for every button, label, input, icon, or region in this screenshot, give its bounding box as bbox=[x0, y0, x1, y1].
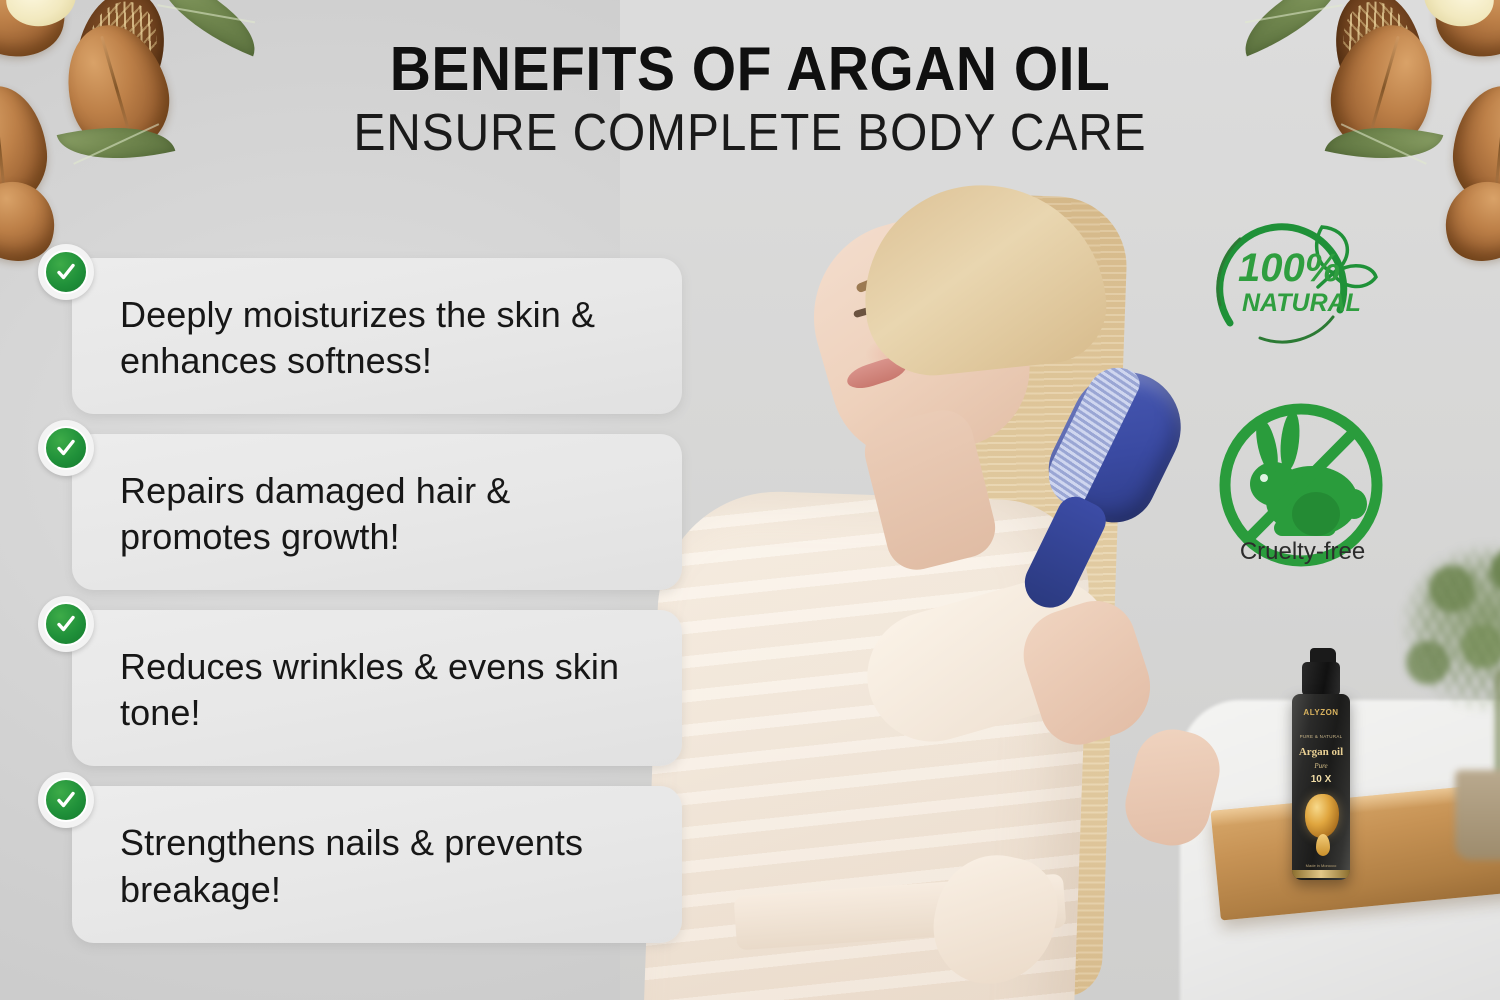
argan-nut-icon bbox=[1305, 794, 1339, 838]
bottle-footer: Made in Morocco bbox=[1292, 863, 1350, 868]
page-title: BENEFITS OF ARGAN OIL ENSURE COMPLETE BO… bbox=[0, 38, 1500, 162]
badge-100-natural: 100% NATURAL bbox=[1200, 205, 1400, 355]
list-item: Strengthens nails & prevents breakage! bbox=[72, 786, 682, 942]
badge-cruelty-label: Cruelty-free bbox=[1195, 538, 1410, 566]
badge-natural-word: NATURAL bbox=[1242, 289, 1361, 317]
list-item: Reduces wrinkles & evens skin tone! bbox=[72, 610, 682, 766]
product-bottle: ALYZON PURE & NATURAL Argan oil Pure 10 … bbox=[1288, 648, 1354, 880]
bottle-strength: 10 X bbox=[1292, 774, 1350, 785]
title-subtitle: ENSURE COMPLETE BODY CARE bbox=[60, 105, 1440, 162]
benefit-text: Repairs damaged hair & promotes growth! bbox=[120, 468, 656, 560]
bottle-tagline: PURE & NATURAL bbox=[1292, 734, 1350, 739]
bottle-brand: ALYZON bbox=[1292, 708, 1350, 717]
badge-natural-percent: 100% bbox=[1238, 246, 1340, 290]
benefit-text: Strengthens nails & prevents breakage! bbox=[120, 820, 656, 912]
benefit-text: Reduces wrinkles & evens skin tone! bbox=[120, 644, 656, 736]
benefits-list: Deeply moisturizes the skin & enhances s… bbox=[72, 258, 682, 963]
check-icon bbox=[38, 244, 94, 300]
list-item: Deeply moisturizes the skin & enhances s… bbox=[72, 258, 682, 414]
benefit-card: Reduces wrinkles & evens skin tone! bbox=[72, 610, 682, 766]
oil-drop-icon bbox=[1316, 834, 1330, 856]
check-icon bbox=[38, 596, 94, 652]
benefit-card: Strengthens nails & prevents breakage! bbox=[72, 786, 682, 942]
benefit-card: Deeply moisturizes the skin & enhances s… bbox=[72, 258, 682, 414]
list-item: Repairs damaged hair & promotes growth! bbox=[72, 434, 682, 590]
bottle-name: Argan oil bbox=[1292, 746, 1350, 758]
benefit-card: Repairs damaged hair & promotes growth! bbox=[72, 434, 682, 590]
check-icon bbox=[38, 420, 94, 476]
title-main: BENEFITS OF ARGAN OIL bbox=[60, 38, 1440, 101]
bottle-script: Pure bbox=[1292, 762, 1350, 770]
woman-brushing-hair-photo bbox=[650, 165, 1210, 1000]
poster-root: BENEFITS OF ARGAN OIL ENSURE COMPLETE BO… bbox=[0, 0, 1500, 1000]
benefit-text: Deeply moisturizes the skin & enhances s… bbox=[120, 292, 656, 384]
